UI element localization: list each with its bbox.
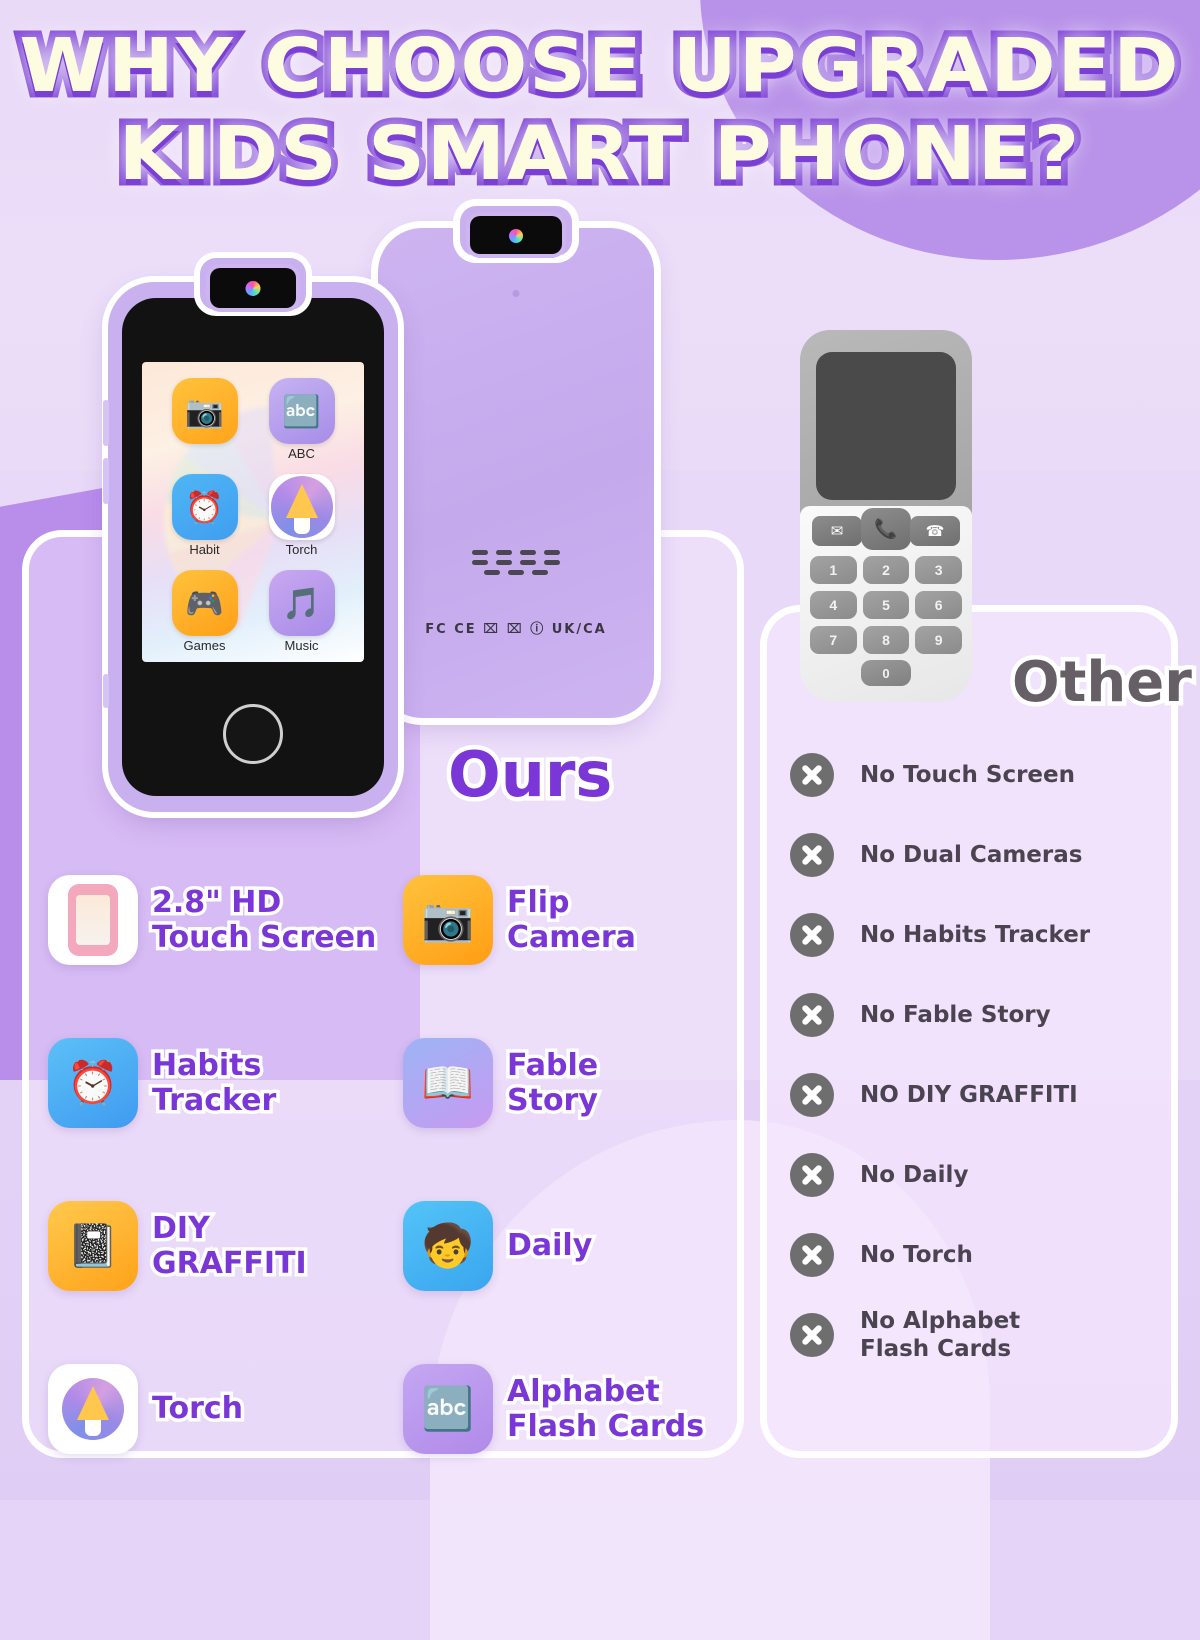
feature-label: Daily [507, 1228, 592, 1263]
rear-camera-lens-icon [509, 229, 523, 243]
feature-label-line2: Tracker [152, 1083, 276, 1118]
limitation-label-line1: NO DIY GRAFFITI [860, 1081, 1078, 1109]
abc-icon: 🔤 [403, 1364, 493, 1454]
feature-label: Alphabet Flash Cards [507, 1374, 704, 1444]
limitation-label: No Touch Screen [860, 761, 1075, 789]
page-title-line-2: KIDS SMART PHONE? [0, 110, 1200, 198]
end-call-button[interactable]: ☎ [910, 516, 960, 546]
camera-icon: 📷 [172, 378, 238, 444]
x-mark-icon [790, 913, 834, 957]
limitation-label: No Alphabet Flash Cards [860, 1307, 1020, 1363]
key-5[interactable]: 5 [863, 591, 910, 619]
other-heading: Other [1012, 650, 1192, 715]
limitation-label-line2: Flash Cards [860, 1335, 1020, 1363]
app-label: ABC [256, 446, 348, 461]
alarm-clock-icon: ⏰ [48, 1038, 138, 1128]
app-grid: 📷 🔤 ABC ⏰ Habit Torch 🎮 Games 🎵 Musi [142, 362, 364, 662]
limitation-label: No Dual Cameras [860, 841, 1082, 869]
feature-torch: Torch [48, 1327, 403, 1490]
list-item-no-touch-screen: No Touch Screen [790, 735, 1160, 815]
feature-label: 2.8" HD Touch Screen [152, 885, 376, 955]
feature-touch-screen: 2.8" HD Touch Screen [48, 838, 403, 1001]
page-title: WHY CHOOSE UPGRADED KIDS SMART PHONE? [0, 22, 1200, 198]
feature-alphabet-flash-cards: 🔤 Alphabet Flash Cards [403, 1327, 748, 1490]
feature-label-line2: Touch Screen [152, 920, 376, 955]
child-icon: 🧒 [403, 1201, 493, 1291]
open-book-icon: 📖 [403, 1038, 493, 1128]
limitation-label: No Habits Tracker [860, 921, 1090, 949]
message-button[interactable]: ✉ [812, 516, 862, 546]
torch-icon [48, 1364, 138, 1454]
feature-label-line1: DIY [152, 1211, 307, 1246]
certification-marks: FC CE ⌧ ⌧ ⓘ UK/CA [425, 618, 606, 637]
volume-up-button[interactable] [103, 400, 109, 446]
feature-label-line1: Daily [507, 1228, 592, 1263]
limitation-label: No Daily [860, 1161, 968, 1189]
list-item-no-habits-tracker: No Habits Tracker [790, 895, 1160, 975]
notebook-brush-icon: 📓 [48, 1201, 138, 1291]
x-mark-icon [790, 1153, 834, 1197]
feature-label-line1: Flip [507, 885, 636, 920]
power-button[interactable] [103, 674, 109, 708]
phone-home-screen: 📷 🔤 ABC ⏰ Habit Torch 🎮 Games 🎵 Musi [142, 362, 364, 662]
app-tile-abc[interactable]: 🔤 ABC [256, 378, 348, 474]
app-tile-music[interactable]: 🎵 Music [256, 570, 348, 662]
feature-label-line2: Story [507, 1083, 598, 1118]
music-note-icon: 🎵 [269, 570, 335, 636]
x-mark-icon [790, 753, 834, 797]
key-4[interactable]: 4 [810, 591, 857, 619]
rear-sensor-dot-icon [513, 290, 520, 297]
limitation-label-line1: No Dual Cameras [860, 841, 1082, 869]
feature-diy-graffiti: 📓 DIY GRAFFITI [48, 1164, 403, 1327]
app-label: Torch [256, 542, 348, 557]
feature-label-line1: 2.8" HD [152, 885, 376, 920]
list-item-no-torch: No Torch [790, 1215, 1160, 1295]
list-item-no-alphabet-flash-cards: No Alphabet Flash Cards [790, 1295, 1160, 1375]
feature-label-line1: Alphabet [507, 1374, 704, 1409]
feature-fable-story: 📖 Fable Story [403, 1001, 748, 1164]
limitation-label-line1: No Alphabet [860, 1307, 1020, 1335]
limitation-label: NO DIY GRAFFITI [860, 1081, 1078, 1109]
speaker-grille-icon [462, 550, 570, 575]
limitation-label: No Torch [860, 1241, 973, 1269]
x-mark-icon [790, 1233, 834, 1277]
limitation-label-line1: No Habits Tracker [860, 921, 1090, 949]
app-label: Music [256, 638, 348, 653]
x-mark-icon [790, 1313, 834, 1357]
phone-back-body [378, 228, 654, 718]
feature-habits-tracker: ⏰ Habits Tracker [48, 1001, 403, 1164]
limitation-label: No Fable Story [860, 1001, 1051, 1029]
feature-daily: 🧒 Daily [403, 1164, 748, 1327]
key-6[interactable]: 6 [915, 591, 962, 619]
other-limitation-list: No Touch Screen No Dual Cameras No Habit… [790, 735, 1160, 1375]
app-label: Games [159, 638, 251, 653]
limitation-label-line1: No Daily [860, 1161, 968, 1189]
product-phone-front-view: 📷 🔤 ABC ⏰ Habit Torch 🎮 Games 🎵 Musi [108, 282, 398, 812]
mini-phone-icon [48, 875, 138, 965]
key-1[interactable]: 1 [810, 556, 857, 584]
feature-label: Fable Story [507, 1048, 598, 1118]
list-item-no-fable-story: No Fable Story [790, 975, 1160, 1055]
feature-label: DIY GRAFFITI [152, 1211, 307, 1281]
feature-label: Habits Tracker [152, 1048, 276, 1118]
key-8[interactable]: 8 [863, 626, 910, 654]
app-label: Habit [159, 542, 251, 557]
limitation-label-line1: No Fable Story [860, 1001, 1051, 1029]
x-mark-icon [790, 833, 834, 877]
key-0[interactable]: 0 [861, 660, 911, 686]
gamepad-icon: 🎮 [172, 570, 238, 636]
key-2[interactable]: 2 [863, 556, 910, 584]
feature-label: Flip Camera [507, 885, 636, 955]
key-9[interactable]: 9 [915, 626, 962, 654]
page-title-line-1: WHY CHOOSE UPGRADED [0, 22, 1200, 110]
feature-label-line2: Flash Cards [507, 1409, 704, 1444]
limitation-label-line1: No Torch [860, 1241, 973, 1269]
key-3[interactable]: 3 [915, 556, 962, 584]
feature-label-line1: Fable [507, 1048, 598, 1083]
app-tile-habit[interactable]: ⏰ Habit [159, 474, 251, 570]
product-phone-back-view: FC CE ⌧ ⌧ ⓘ UK/CA [378, 228, 654, 718]
app-tile-camera[interactable]: 📷 [159, 378, 251, 474]
feature-label-line1: Torch [152, 1391, 243, 1426]
torch-icon [269, 474, 335, 540]
key-7[interactable]: 7 [810, 626, 857, 654]
call-button[interactable]: 📞 [861, 508, 911, 550]
list-item-no-daily: No Daily [790, 1135, 1160, 1215]
feature-label-line2: GRAFFITI [152, 1246, 307, 1281]
feature-label-line2: Camera [507, 920, 636, 955]
list-item-no-dual-cameras: No Dual Cameras [790, 815, 1160, 895]
abc-icon: 🔤 [269, 378, 335, 444]
front-camera-lens-icon [246, 281, 261, 296]
feature-flip-camera: 📷 Flip Camera [403, 838, 748, 1001]
feature-label: Torch [152, 1391, 243, 1426]
alarm-clock-icon: ⏰ [172, 474, 238, 540]
x-mark-icon [790, 1073, 834, 1117]
app-tile-games[interactable]: 🎮 Games [159, 570, 251, 662]
list-item-no-diy-graffiti: NO DIY GRAFFITI [790, 1055, 1160, 1135]
competitor-phone-screen [816, 352, 956, 500]
competitor-phone: ✉ 📞 ☎ 1 2 3 4 5 6 7 8 9 0 [800, 330, 972, 702]
ours-feature-list: 2.8" HD Touch Screen 📷 Flip Camera ⏰ Hab… [48, 838, 748, 1490]
feature-label-line1: Habits [152, 1048, 276, 1083]
numeric-keypad: 1 2 3 4 5 6 7 8 9 [810, 556, 962, 654]
app-tile-torch[interactable]: Torch [256, 474, 348, 570]
volume-down-button[interactable] [103, 458, 109, 504]
x-mark-icon [790, 993, 834, 1037]
limitation-label-line1: No Touch Screen [860, 761, 1075, 789]
ours-heading: Ours [448, 738, 612, 811]
home-button[interactable] [223, 704, 283, 764]
camera-icon: 📷 [403, 875, 493, 965]
